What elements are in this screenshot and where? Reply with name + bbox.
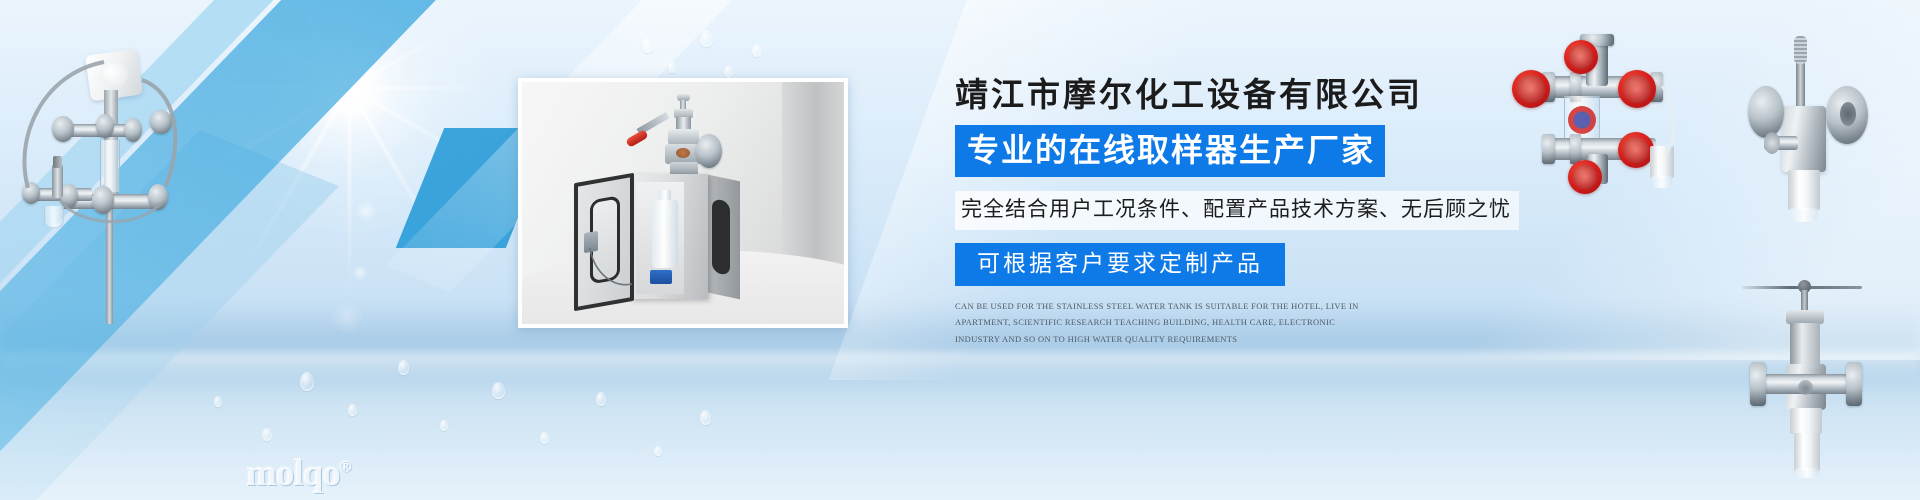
sun-ray-icon: [219, 12, 350, 90]
registered-mark-icon: ®: [340, 459, 352, 476]
water-droplet-icon: [492, 382, 505, 399]
sun-ray-icon: [348, 88, 351, 298]
sun-ray-icon: [349, 32, 446, 90]
water-droplet-icon: [214, 396, 222, 407]
photo-sampling-valve: [664, 94, 702, 180]
promo-banner: 靖江市摩尔化工设备有限公司 专业的在线取样器生产厂家 完全结合用户工况条件、配置…: [0, 0, 1920, 500]
water-droplet-icon: [700, 30, 713, 47]
water-droplet-icon: [300, 372, 314, 391]
product-flanged-needle-sampler: [1742, 268, 1920, 493]
water-droplet-icon: [440, 420, 448, 431]
water-droplet-icon: [398, 360, 409, 375]
photo-bottle-cap: [650, 270, 672, 284]
tubing-icon: [1490, 28, 1710, 193]
water-droplet-icon: [596, 392, 606, 406]
water-droplet-icon: [654, 446, 662, 456]
headline-badge: 专业的在线取样器生产厂家: [955, 125, 1385, 177]
photo-sample-bottle: [652, 200, 678, 268]
lens-flare-dot: [352, 265, 368, 281]
sun-ray-icon: [243, 87, 351, 270]
sun-glare-icon: [180, 0, 520, 260]
tubing-icon: [0, 18, 190, 318]
sun-ray-icon: [350, 87, 490, 90]
water-droplet-icon: [724, 66, 733, 78]
photo-key-cable-icon: [578, 242, 648, 302]
english-description: CAN BE USED FOR THE STAINLESS STEEL WATE…: [955, 298, 1375, 346]
tagline-badge: 可根据客户要求定制产品: [955, 243, 1285, 286]
product-pipeline-sampler-assembly: [0, 18, 190, 318]
water-droplet-icon: [752, 44, 762, 57]
watermark-text: molqo: [246, 453, 340, 494]
water-droplet-icon: [642, 38, 653, 53]
sun-ray-icon: [348, 0, 351, 88]
sun-ray-icon: [349, 87, 480, 165]
water-droplet-icon: [668, 62, 676, 73]
company-name: 靖江市摩尔化工设备有限公司: [955, 78, 1475, 114]
brand-watermark: molqo®: [246, 452, 352, 495]
sun-ray-icon: [200, 87, 350, 90]
sun-ray-icon: [243, 0, 351, 89]
lens-flare-dot: [330, 300, 364, 334]
sun-ray-icon: [167, 87, 350, 195]
water-droplet-icon: [348, 404, 357, 416]
water-droplet-icon: [700, 410, 711, 425]
lens-flare-dot: [355, 200, 377, 222]
product-cross-valve-sampler: [1490, 28, 1710, 193]
sun-ray-icon: [348, 0, 406, 89]
product-photo-cabinet-sampler: [518, 78, 848, 328]
horizon-highlight: [0, 352, 1920, 382]
water-droplet-icon: [540, 432, 549, 444]
water-droplet-icon: [262, 428, 272, 441]
marketing-text-block: 靖江市摩尔化工设备有限公司 专业的在线取样器生产厂家 完全结合用户工况条件、配置…: [955, 78, 1475, 347]
subline-text: 完全结合用户工况条件、配置产品技术方案、无后顾之忧: [955, 191, 1519, 230]
sun-ray-icon: [348, 87, 456, 270]
photo-cabinet-handle: [712, 198, 730, 276]
product-flanged-lever-sampler: [1738, 24, 1918, 239]
